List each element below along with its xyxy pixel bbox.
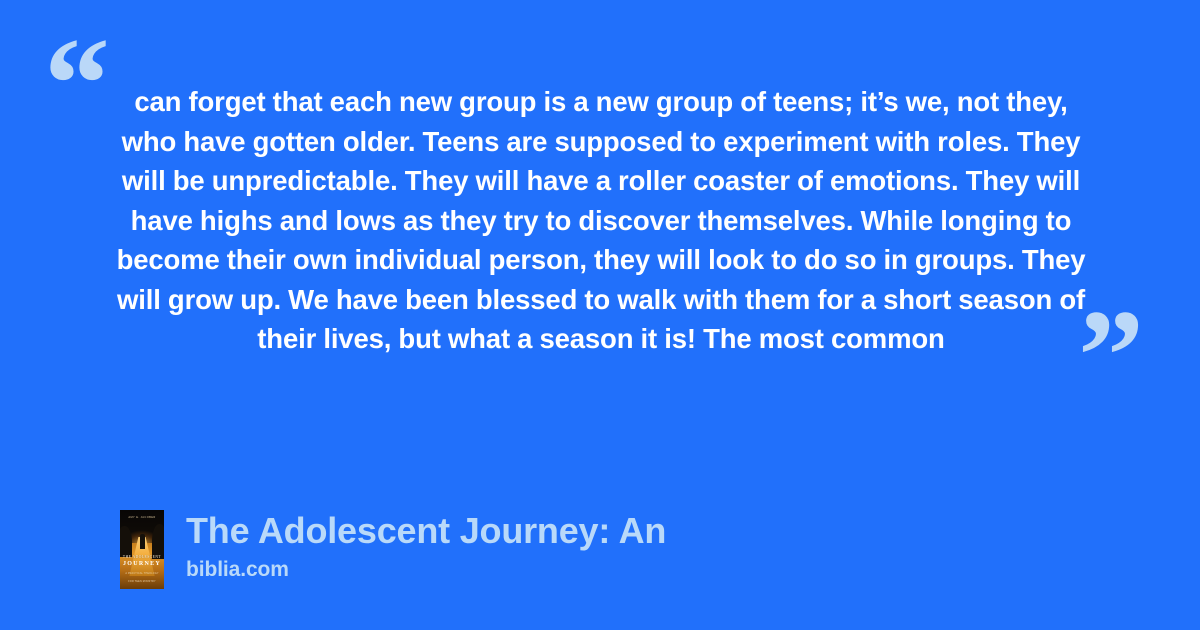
cover-tree-left: [120, 526, 132, 558]
site-name: biblia.com: [186, 558, 666, 582]
closing-quote-icon: ”: [1078, 290, 1144, 422]
opening-quote-icon: “: [44, 18, 110, 150]
quote-card: “ can forget that each new group is a ne…: [0, 0, 1200, 630]
attribution-text: The Adolescent Journey: An biblia.com: [186, 510, 666, 582]
cover-title-line-1: THE ADOLESCENT: [120, 555, 164, 559]
attribution-footer: AMY E. JACOBER THE ADOLESCENT JOURNEY A …: [120, 510, 666, 589]
book-title: The Adolescent Journey: An: [186, 510, 666, 552]
cover-subtitle-line-1: A PRACTICAL THEOLOGY: [120, 572, 164, 575]
cover-figure: [140, 534, 145, 549]
cover-author-name: AMY E. JACOBER: [120, 516, 164, 519]
book-cover-thumbnail: AMY E. JACOBER THE ADOLESCENT JOURNEY A …: [120, 510, 164, 589]
quote-text: can forget that each new group is a new …: [110, 82, 1092, 359]
cover-tree-right: [152, 524, 164, 559]
cover-subtitle-line-2: FOR TEEN MINISTRY: [120, 580, 164, 583]
quote-block: “ can forget that each new group is a ne…: [0, 0, 1200, 440]
cover-title-line-2: JOURNEY: [120, 561, 164, 567]
